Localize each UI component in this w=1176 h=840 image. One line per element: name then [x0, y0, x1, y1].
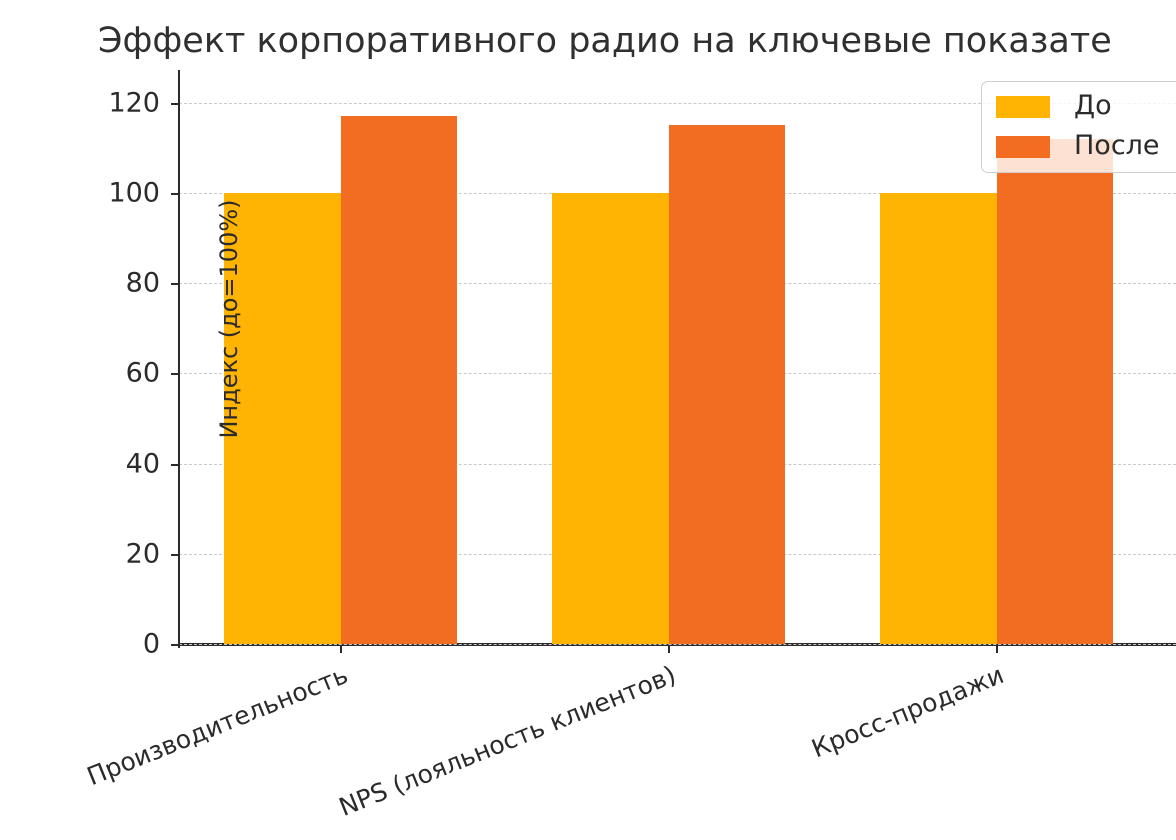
legend-label: До	[1074, 89, 1112, 123]
y-tick-label: 60	[40, 358, 160, 389]
y-axis-label: Индекс (до=100%)	[215, 179, 243, 459]
legend-label: После	[1074, 129, 1160, 163]
chart-legend[interactable]: ДоПосле	[981, 81, 1176, 173]
y-tick-label: 80	[40, 268, 160, 299]
y-tick-mark	[171, 464, 180, 466]
y-tick-mark	[171, 644, 180, 646]
x-tick-mark	[996, 645, 998, 653]
y-tick-mark	[171, 373, 180, 375]
y-tick-mark	[171, 283, 180, 285]
x-tick-label: NPS (лояльность клиентов)	[149, 660, 679, 840]
x-tick-mark	[668, 645, 670, 653]
y-tick-label: 20	[40, 538, 160, 569]
y-tick-label: 0	[40, 629, 160, 660]
bar	[997, 139, 1114, 644]
legend-swatch	[996, 136, 1050, 158]
bar	[341, 116, 458, 644]
y-tick-label: 100	[40, 177, 160, 208]
y-tick-mark	[171, 103, 180, 105]
x-tick-mark	[340, 645, 342, 653]
y-tick-mark	[171, 554, 180, 556]
y-tick-label: 120	[40, 87, 160, 118]
x-tick-label: Кросс-продажи	[477, 660, 1007, 840]
bar	[669, 125, 786, 644]
y-tick-mark	[171, 193, 180, 195]
legend-swatch	[996, 96, 1050, 118]
gridline	[179, 644, 1176, 645]
chart-figure: Эффект корпоративного радио на ключевые …	[0, 0, 1176, 840]
bar	[552, 193, 669, 644]
y-tick-label: 40	[40, 448, 160, 479]
chart-title: Эффект корпоративного радио на ключевые …	[0, 18, 1176, 64]
bar	[880, 193, 997, 644]
